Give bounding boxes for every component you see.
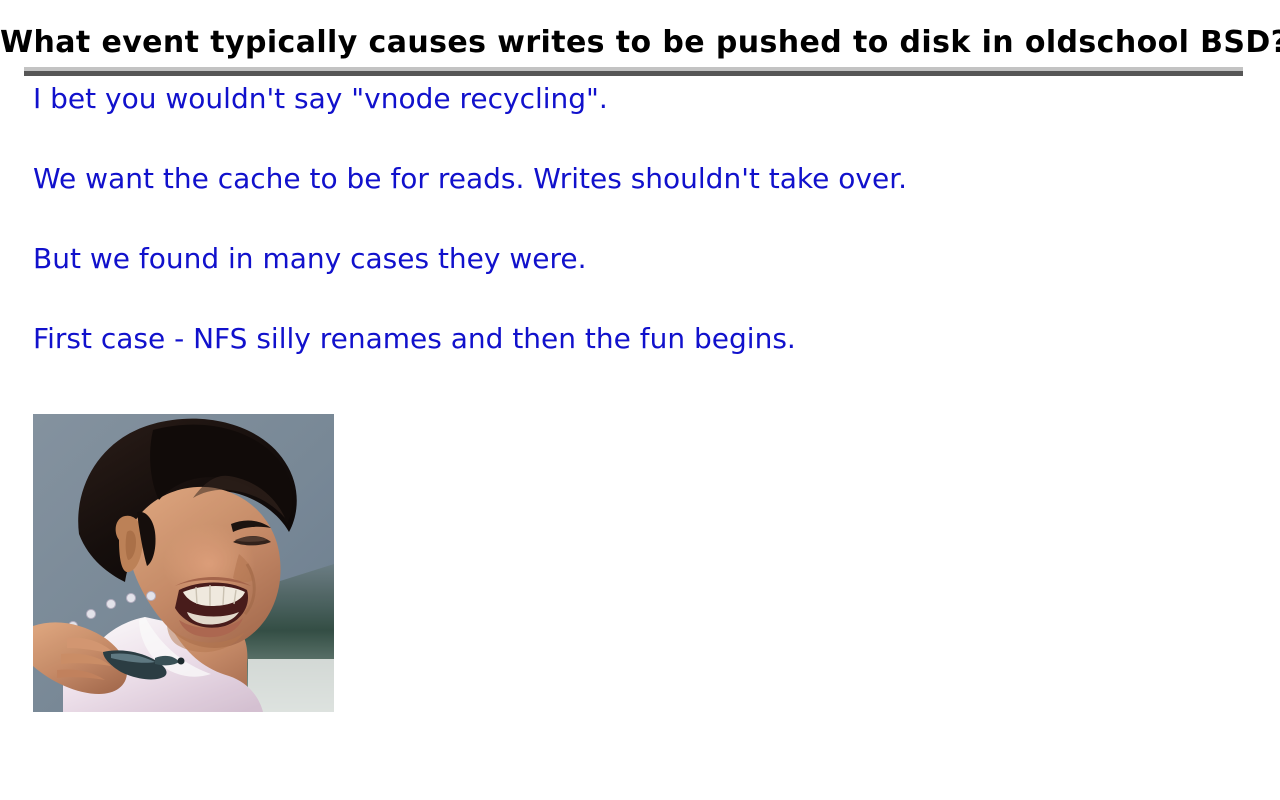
body-line-text: First case - NFS silly renames and then … xyxy=(33,324,796,354)
body-line-text: We want the cache to be for reads. Write… xyxy=(33,164,907,194)
body-line: We want the cache to be for reads. Write… xyxy=(33,164,1233,244)
man-grimacing-photo xyxy=(33,414,334,712)
slide-title: What event typically causes writes to be… xyxy=(0,24,1280,62)
body-line: First case - NFS silly renames and then … xyxy=(33,324,1233,404)
divider-dark-band xyxy=(24,71,1243,76)
title-divider xyxy=(24,67,1243,76)
body-line-text: But we found in many cases they were. xyxy=(33,244,587,274)
body-line-text: I bet you wouldn't say "vnode recycling"… xyxy=(33,84,608,114)
slide-canvas: What event typically causes writes to be… xyxy=(0,0,1280,800)
body-text-block: I bet you wouldn't say "vnode recycling"… xyxy=(33,84,1233,404)
body-line: But we found in many cases they were. xyxy=(33,244,1233,324)
body-line: I bet you wouldn't say "vnode recycling"… xyxy=(33,84,1233,164)
